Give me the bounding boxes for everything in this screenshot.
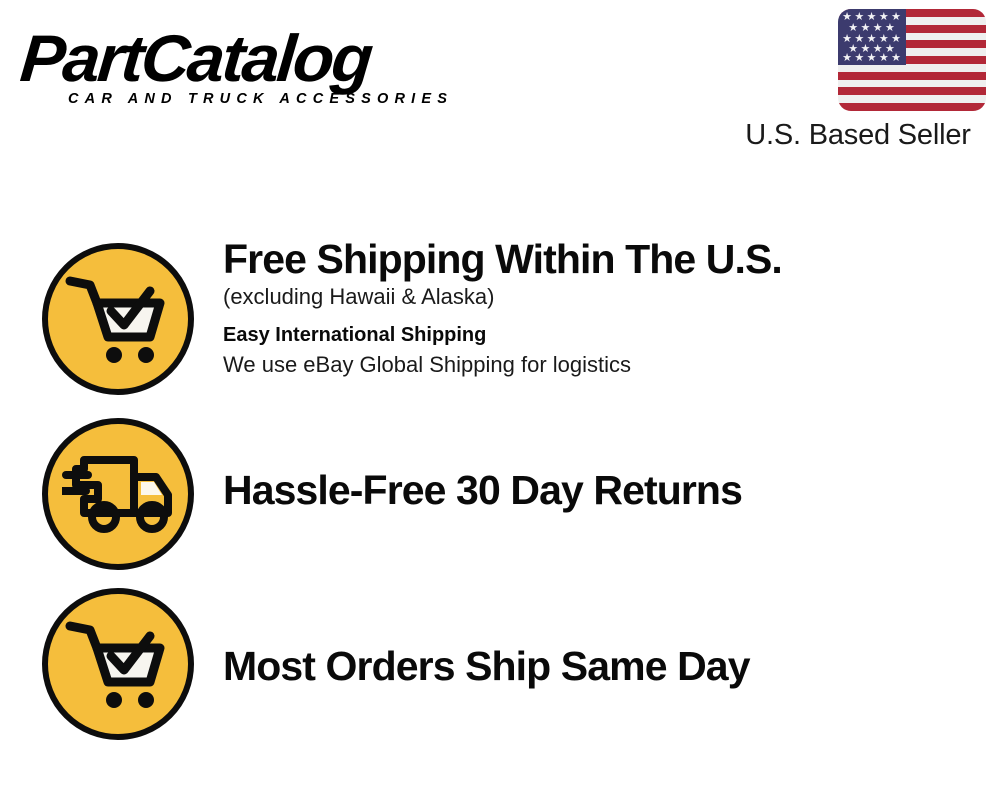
brand-wordmark: PartCatalog — [18, 22, 500, 94]
us-based-seller-badge: ★ ★ ★ ★ ★ ★ ★ ★ ★ ★ ★ ★ ★ ★ ★ ★ ★ ★ ★ ★ — [838, 9, 986, 111]
shopping-cart-check-icon — [42, 243, 194, 395]
feature-text-returns: Hassle-Free 30 Day Returns — [223, 467, 742, 513]
feature-headline: Free Shipping Within The U.S. — [223, 236, 782, 282]
us-flag-icon: ★ ★ ★ ★ ★ ★ ★ ★ ★ ★ ★ ★ ★ ★ ★ ★ ★ ★ ★ ★ — [838, 9, 986, 111]
feature-secondary-subline: We use eBay Global Shipping for logistic… — [223, 350, 782, 380]
flag-canton: ★ ★ ★ ★ ★ ★ ★ ★ ★ ★ ★ ★ ★ ★ ★ ★ ★ ★ ★ ★ — [838, 9, 906, 65]
feature-headline: Hassle-Free 30 Day Returns — [223, 467, 742, 513]
feature-headline: Most Orders Ship Same Day — [223, 643, 750, 689]
delivery-truck-icon — [42, 418, 194, 570]
shopping-cart-check-icon — [42, 588, 194, 740]
brand-logo[interactable]: PartCatalog CAR AND TRUCK ACCESSORIES — [20, 22, 490, 122]
feature-secondary-headline: Easy International Shipping — [223, 320, 782, 350]
shipping-info-banner: PartCatalog CAR AND TRUCK ACCESSORIES ★ … — [0, 0, 1000, 800]
feature-text-free-shipping: Free Shipping Within The U.S. (excluding… — [223, 236, 782, 380]
feature-text-same-day: Most Orders Ship Same Day — [223, 643, 750, 689]
us-based-seller-label: U.S. Based Seller — [725, 119, 991, 152]
feature-subline: (excluding Hawaii & Alaska) — [223, 282, 782, 312]
